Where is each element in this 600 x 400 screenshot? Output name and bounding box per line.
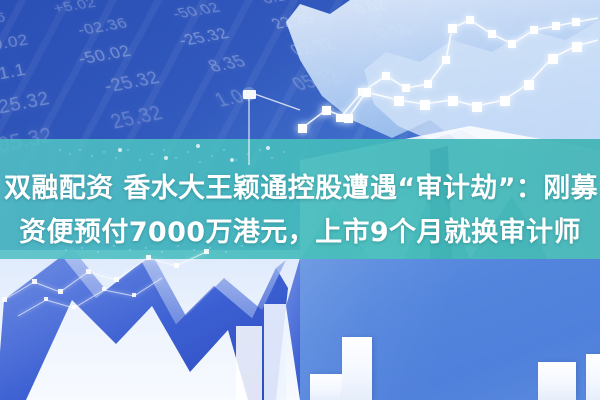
ticker-value: 1.16 — [0, 9, 8, 30]
ticker-value: 22.35 — [267, 9, 320, 32]
ticker-value: 25.32 — [0, 87, 52, 119]
bar-column — [586, 354, 600, 400]
ticker-value: -50.02 — [169, 0, 224, 22]
ticker-value: 8.35 — [204, 51, 251, 77]
ticker-value: 05.32 — [287, 66, 347, 95]
ticker-value: -01.1 — [0, 59, 28, 87]
headline-block: 双融配资 香水大王颖通控股遭遇“审计劫”：刚募 资便预付7000万港元，上市9个… — [0, 163, 600, 259]
pillar — [264, 304, 286, 400]
ticker-value: 0.36 — [370, 20, 417, 42]
ticker-value: 0.02 — [348, 0, 393, 17]
headline-line-1: 双融配资 香水大王颖通控股遭遇“审计劫”：刚募 — [2, 167, 598, 211]
ticker-value: 1.25 — [377, 50, 428, 75]
bar-column — [310, 374, 344, 400]
bar-chart-panel — [300, 259, 600, 400]
bar-column — [342, 337, 372, 400]
news-banner: -4.05 2.26 -99.02 -05.35 +0.02 21.0 -1.2… — [0, 0, 600, 400]
ticker-value: -02.36 — [75, 14, 131, 39]
zigzag-ribbon-top — [0, 256, 288, 400]
ticker-value: 1.0 — [210, 84, 250, 111]
zigzag-ribbon-side — [4, 248, 286, 324]
ticker-value: -50.02 — [75, 41, 134, 69]
ticker-value: 8.1 — [256, 0, 289, 7]
pillar — [236, 326, 262, 400]
ticker-value: 25.32 — [107, 100, 167, 133]
ticker-value: -25.32 — [101, 67, 164, 98]
ticker-value: 02.32 — [285, 34, 341, 60]
ticker-value: -25.32 — [174, 24, 233, 50]
bar-column — [538, 362, 576, 400]
headline-line-2: 资便预付7000万港元，上市9个月就换审计师 — [19, 211, 581, 255]
